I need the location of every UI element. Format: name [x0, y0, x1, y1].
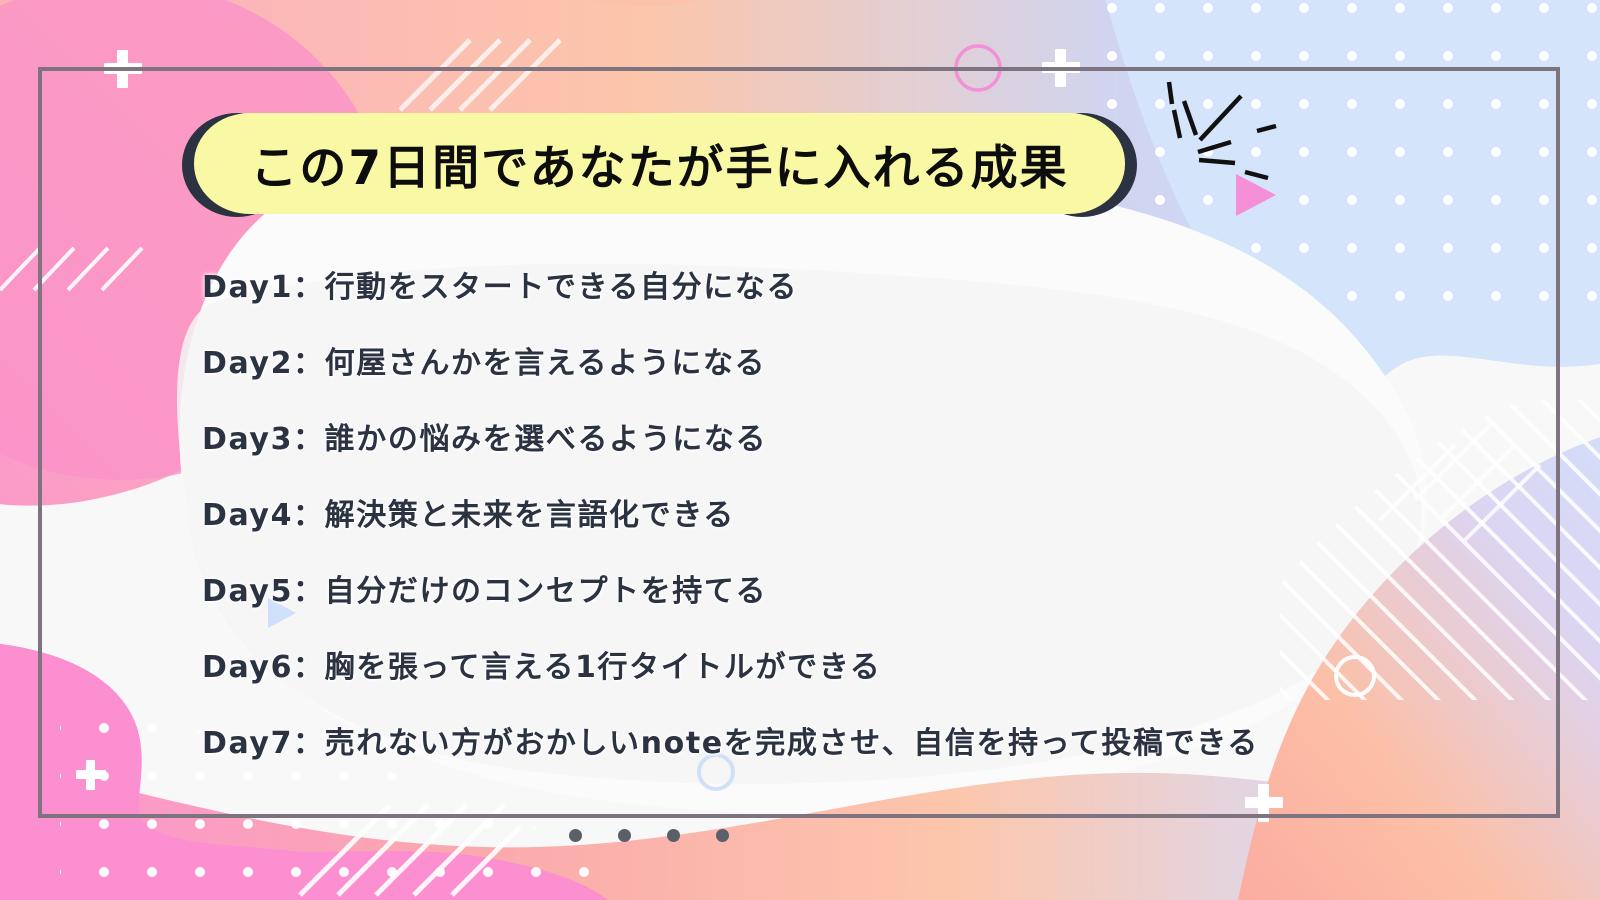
list-item: Day7：売れない方がおかしいnoteを完成させ、自信を持って投稿できる — [202, 706, 1502, 782]
pager-dot — [569, 829, 582, 842]
list-item: Day3：誰かの悩みを選べるようになる — [202, 402, 1502, 478]
pager-dot — [618, 829, 631, 842]
page-title: この7日間であなたが手に入れる成果 — [182, 113, 1137, 214]
list-item: Day1：行動をスタートできる自分になる — [202, 250, 1502, 326]
list-item: Day2：何屋さんかを言えるようになる — [202, 326, 1502, 402]
slide-canvas: この7日間であなたが手に入れる成果 Day1：行動をスタートできる自分になる D… — [0, 0, 1600, 900]
title-banner: この7日間であなたが手に入れる成果 — [182, 113, 1137, 217]
pager-dots — [569, 829, 729, 842]
pager-dot — [716, 829, 729, 842]
day-outcome-list: Day1：行動をスタートできる自分になる Day2：何屋さんかを言えるようになる… — [202, 250, 1502, 782]
pager-dot — [667, 829, 680, 842]
list-item: Day6：胸を張って言える1行タイトルができる — [202, 630, 1502, 706]
list-item: Day4：解決策と未来を言語化できる — [202, 478, 1502, 554]
list-item: Day5：自分だけのコンセプトを持てる — [202, 554, 1502, 630]
